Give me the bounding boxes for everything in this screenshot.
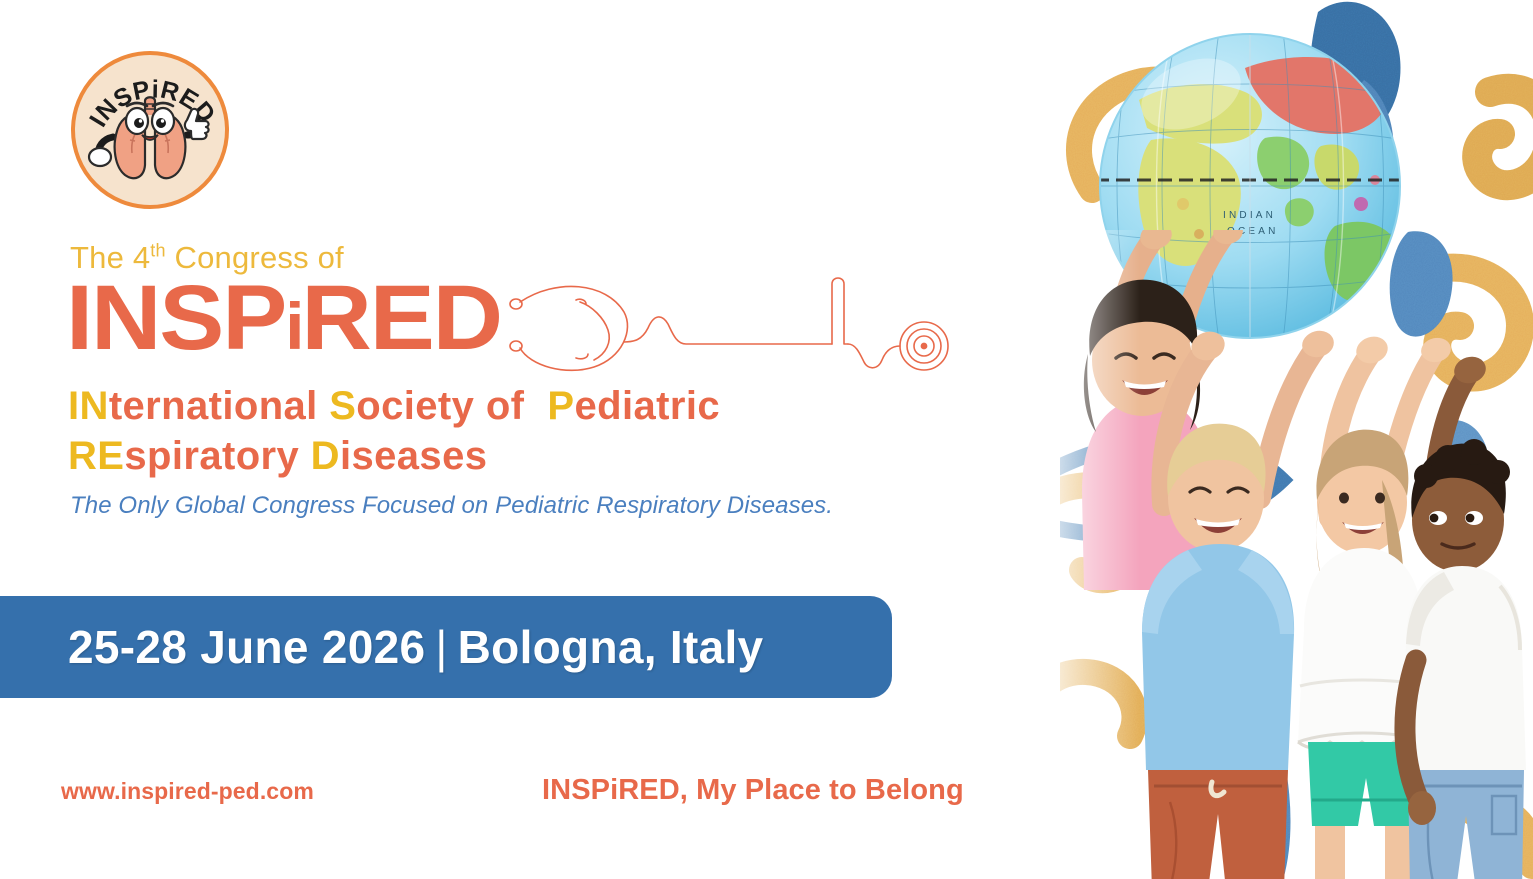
date-location-text: 25-28 June 2026|Bologna, Italy (68, 620, 763, 674)
congress-tagline: The Only Global Congress Focused on Pedi… (70, 492, 833, 520)
expansion-line-2: REspiratory Diseases (68, 432, 720, 480)
date-separator: | (435, 621, 447, 673)
congress-location: Bologna, Italy (458, 621, 764, 673)
congress-ordinal: th (150, 241, 165, 261)
website-link[interactable]: www.inspired-ped.com (61, 778, 314, 805)
wordmark-red: RED (301, 267, 501, 369)
expansion-line-1: INternational Society of Pediatric (68, 384, 720, 428)
congress-slogan: INSPiRED, My Place to Belong (542, 774, 964, 807)
children-globe-photo: INDIAN OCEAN (1060, 0, 1533, 879)
child-4-white-shirt (1402, 353, 1526, 879)
inspired-logo-badge[interactable]: INSPiRED (71, 51, 229, 209)
lungs-mascot-icon (87, 85, 213, 185)
conference-banner: INSPiRED (0, 0, 1533, 879)
children-group-illustration (1060, 230, 1533, 879)
banner-left-content: INSPiRED (0, 0, 1080, 879)
congress-dates: 25-28 June 2026 (68, 621, 425, 673)
wordmark-insp: INSP (66, 267, 285, 369)
stethoscope-icon (496, 262, 966, 390)
date-location-banner: 25-28 June 2026|Bologna, Italy (0, 596, 892, 698)
wordmark-i: i (285, 289, 301, 363)
society-name-expansion: INternational Society of Pediatric REspi… (68, 382, 720, 480)
inspired-wordmark: INSPiRED (66, 276, 476, 368)
